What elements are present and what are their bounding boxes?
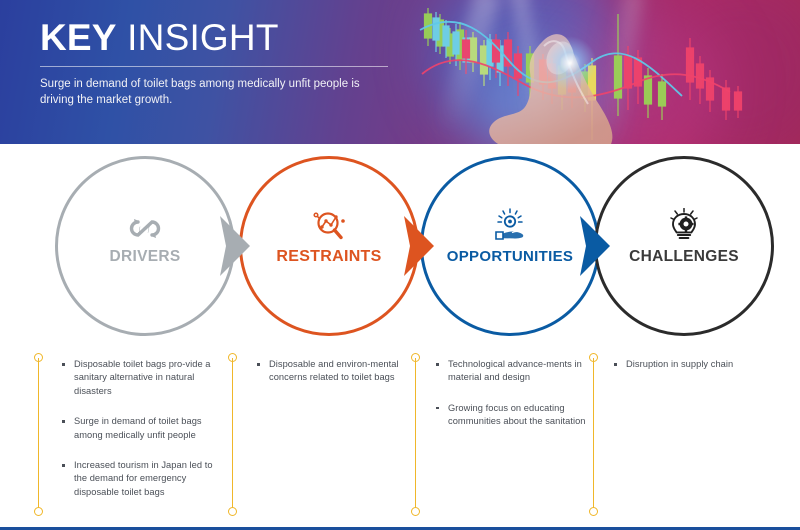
header-glow-magenta [640, 0, 800, 144]
bullet-list-restraints: Disposable and environ-mental concerns r… [255, 358, 405, 402]
header-glow-pink [560, 10, 730, 144]
divider-knob-bottom [411, 507, 420, 516]
hand-pointing-finger-icon [470, 24, 720, 144]
magnifier-chart-icon [239, 204, 419, 242]
page-title: KEY INSIGHT [40, 16, 390, 60]
pillar-circle-row: ∫ ∫ DRIVERS [0, 144, 800, 344]
hand-holding-sun-icon [420, 204, 600, 242]
header-glow-cyan [470, 50, 590, 144]
divider-line [593, 358, 594, 511]
list-item: Surge in demand of toilet bags among med… [60, 415, 220, 442]
pillar-drivers[interactable]: ∫ ∫ DRIVERS [55, 156, 235, 336]
divider-line [232, 358, 233, 511]
list-item: Growing focus on educating communities a… [434, 402, 586, 429]
bullet-columns: Disposable toilet bags pro-vide a sanita… [0, 344, 800, 527]
pillar-label: OPPORTUNITIES [420, 248, 600, 265]
chevron-drivers-to-restraints-icon [218, 214, 252, 278]
bullet-list-drivers: Disposable toilet bags pro-vide a sanita… [60, 358, 220, 516]
page-title-bold: KEY [40, 17, 117, 58]
lens-flare-icon [543, 36, 597, 90]
header-glow-blue [430, 0, 630, 144]
title-block: KEY INSIGHT Surge in demand of toilet ba… [40, 16, 390, 108]
pillar-content: OPPORTUNITIES [420, 204, 600, 265]
divider-knob-bottom [228, 507, 237, 516]
divider-line [38, 358, 39, 511]
title-divider [40, 66, 388, 67]
pillar-opportunities[interactable]: OPPORTUNITIES [420, 156, 600, 336]
column-divider [589, 353, 598, 516]
header-light-streak [435, 0, 501, 139]
pillar-content: ∫ ∫ DRIVERS [55, 204, 235, 266]
stock-candlestick-chart-icon [400, 0, 800, 144]
cycle-arrows-icon: ∫ ∫ [55, 204, 235, 242]
list-item: Disposable and environ-mental concerns r… [255, 358, 405, 385]
page-title-light: INSIGHT [127, 17, 278, 58]
divider-knob-bottom [34, 507, 43, 516]
pillar-challenges[interactable]: CHALLENGES [594, 156, 774, 336]
column-divider [411, 353, 420, 516]
bullet-list-challenges: Disruption in supply chain [612, 358, 777, 388]
page-subtitle: Surge in demand of toilet bags among med… [40, 76, 390, 108]
list-item: Increased tourism in Japan led to the de… [60, 459, 220, 499]
svg-text:∫: ∫ [138, 226, 141, 233]
chevron-opportunities-to-challenges-icon [578, 214, 612, 278]
pillar-content: CHALLENGES [594, 204, 774, 266]
pillar-content: RESTRAINTS [239, 204, 419, 266]
lightbulb-gear-icon [594, 204, 774, 242]
chevron-restraints-to-opportunities-icon [402, 214, 436, 278]
divider-line [415, 358, 416, 511]
pillar-restraints[interactable]: RESTRAINTS [239, 156, 419, 336]
header-light-streak [509, 0, 553, 144]
divider-knob-bottom [589, 507, 598, 516]
list-item: Disposable toilet bags pro-vide a sanita… [60, 358, 220, 398]
svg-text:∫: ∫ [147, 226, 150, 233]
list-item: Technological advance-ments in material … [434, 358, 586, 385]
pillar-label: RESTRAINTS [239, 248, 419, 266]
header-light-streak [600, 0, 645, 144]
list-item: Disruption in supply chain [612, 358, 777, 371]
infographic-page: KEY INSIGHT Surge in demand of toilet ba… [0, 0, 800, 530]
column-divider [34, 353, 43, 516]
pillar-label: DRIVERS [55, 248, 235, 266]
bullet-list-opportunities: Technological advance-ments in material … [434, 358, 586, 446]
pillar-label: CHALLENGES [594, 248, 774, 266]
column-divider [228, 353, 237, 516]
header-banner: KEY INSIGHT Surge in demand of toilet ba… [0, 0, 800, 144]
